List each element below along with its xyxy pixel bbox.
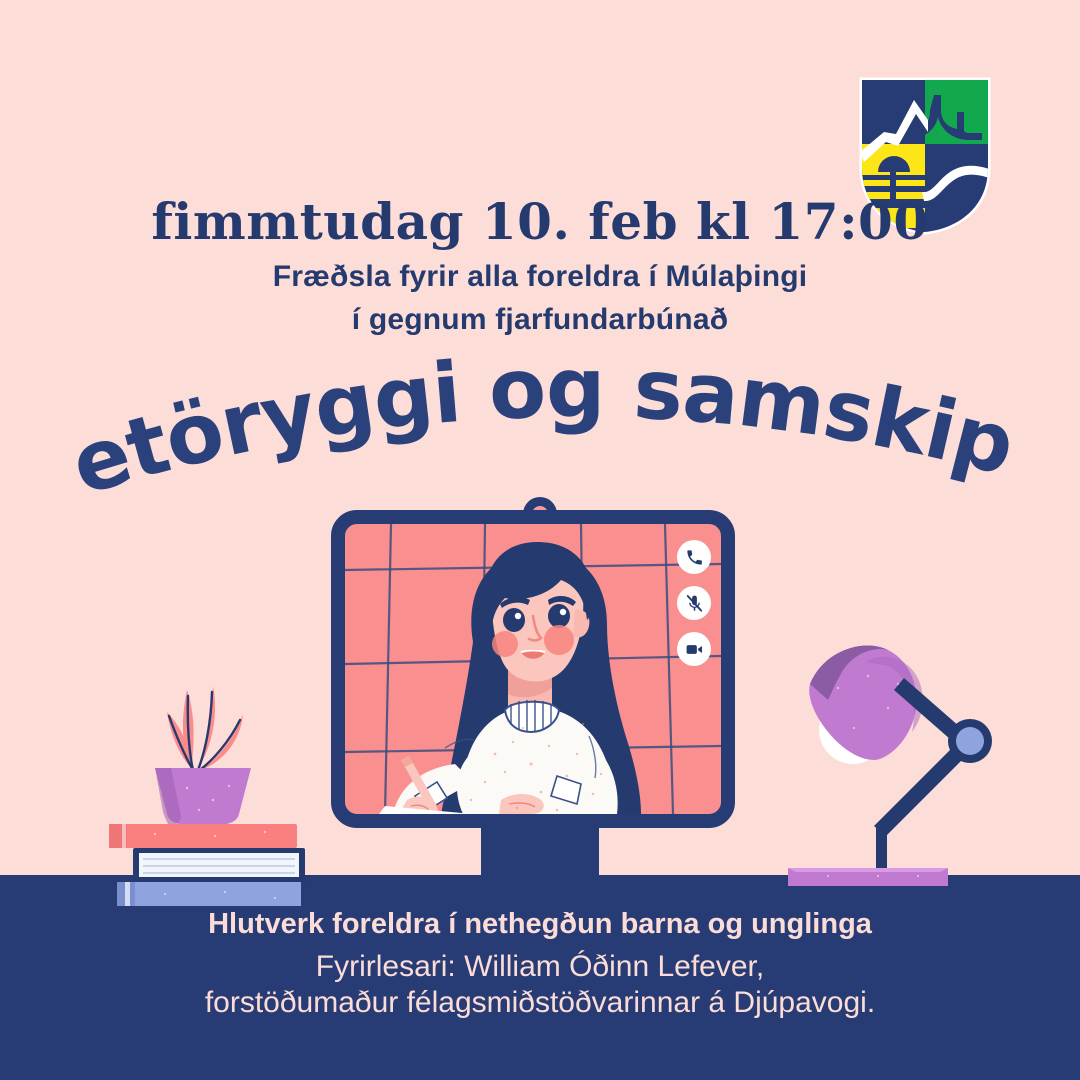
monitor-stand (481, 822, 599, 882)
video-camera-icon[interactable] (677, 632, 711, 666)
event-subtitle-line-2: í gegnum fjarfundarbúnað (0, 303, 1080, 337)
footer-speaker-line: Fyrirlesari: William Óðinn Lefever, (0, 950, 1080, 984)
microphone-muted-icon[interactable] (677, 586, 711, 620)
desktop-monitor (331, 510, 735, 828)
potted-plant-leaves (167, 686, 243, 770)
call-controls (677, 540, 711, 666)
headline-container: Netöryggi og samskipti (0, 362, 1080, 502)
footer-heading: Hlutverk foreldra í nethegðun barna og u… (0, 908, 1080, 941)
desk-lamp (778, 628, 1028, 890)
headline-arc-svg: Netöryggi og samskipti (0, 362, 1080, 502)
phone-icon[interactable] (677, 540, 711, 574)
footer-speaker-role-line: forstöðumaður félagsmiðstöðvarinnar á Dj… (0, 986, 1080, 1020)
poster-canvas: fimmtudag 10. feb kl 17:00 Fræðsla fyrir… (0, 0, 1080, 1080)
woman-on-video-call (345, 524, 721, 814)
event-date-time: fimmtudag 10. feb kl 17:00 (0, 192, 1080, 251)
monitor-screen (331, 510, 735, 828)
stacked-books-with-plant (95, 676, 335, 906)
event-subtitle-line-1: Fræðsla fyrir alla foreldra í Múlaþingi (0, 260, 1080, 294)
